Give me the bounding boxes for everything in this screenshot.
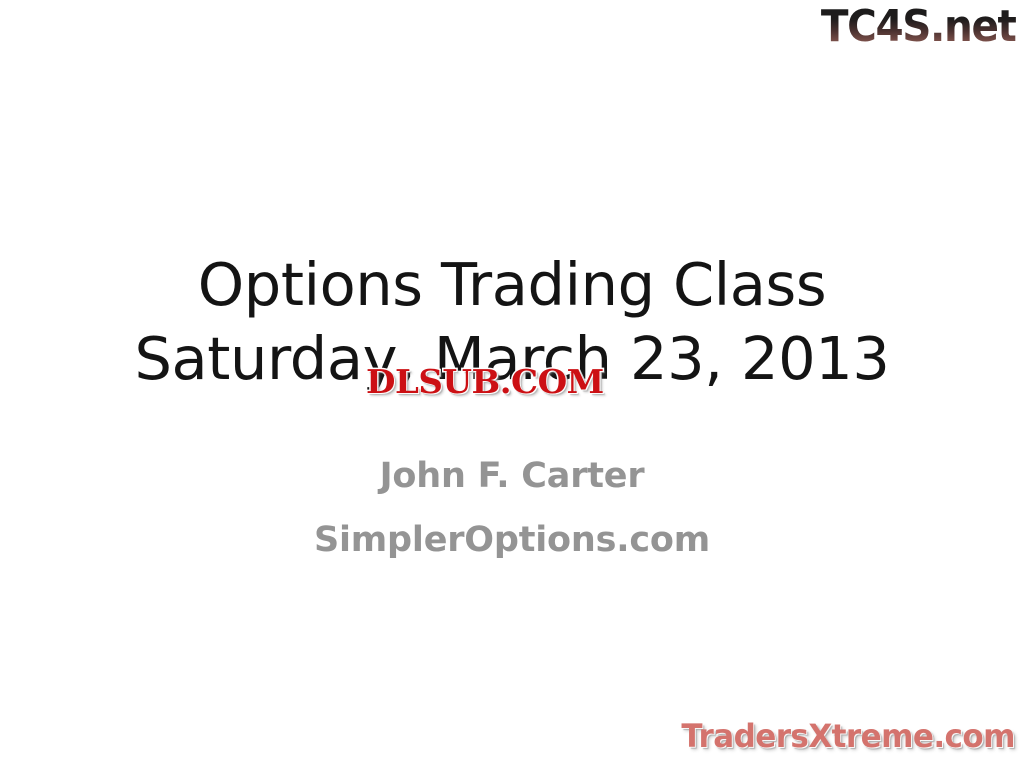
dlsub-watermark: DLSUB.COM	[366, 362, 604, 402]
presentation-slide: TC4S.net Options Trading Class Saturday,…	[0, 0, 1024, 768]
tradersxtreme-brand-logo: TradersXtreme.com	[681, 716, 1015, 756]
slide-subtitle: John F. Carter SimplerOptions.com	[0, 444, 1024, 572]
slide-title-line-1: Options Trading Class	[0, 248, 1024, 322]
tc4s-brand-logo: TC4S.net	[821, 2, 1016, 52]
presenter-name: John F. Carter	[0, 444, 1024, 508]
presenter-website: SimplerOptions.com	[0, 508, 1024, 572]
